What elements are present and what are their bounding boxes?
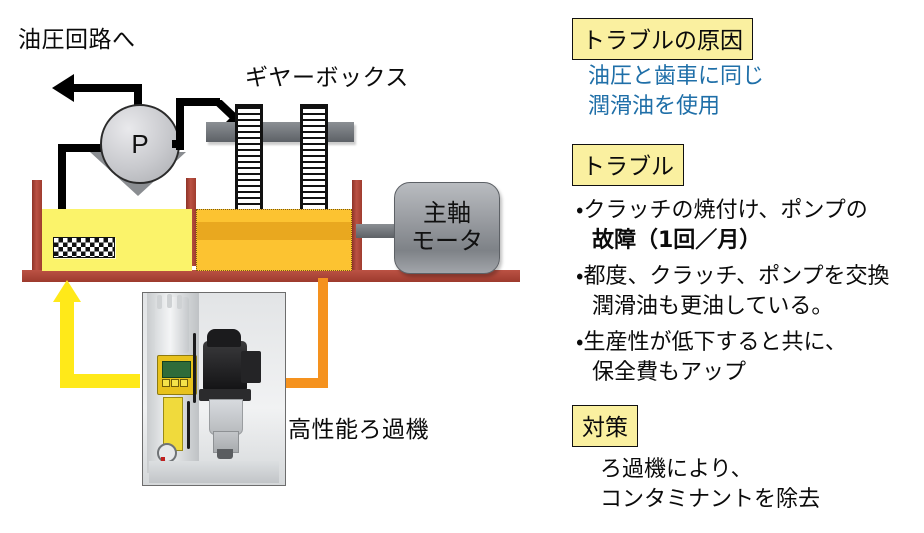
slide-root: 油圧回路へ ギヤーボックス 高性能ろ過機 P [0,0,924,533]
photo-cable-a [193,333,196,403]
photo-filter-bowl [209,399,243,435]
filter-unit-photo [142,292,286,486]
photo-drain-valve [217,449,233,459]
header-trouble: トラブル [572,144,684,186]
countermeasure-line2: コンタミナントを除去 [600,485,820,515]
header-cause: トラブルの原因 [572,18,753,60]
photo-cable-b [187,401,190,449]
trouble-bullet-3-line1: ・生産性が低下すると共に、 [576,328,847,358]
return-flow-horizontal [60,374,140,388]
pump-label: P [131,129,148,160]
label-hydraulic-circuit: 油圧回路へ [18,20,136,54]
pipe-to-hydraulic-circuit [72,84,142,92]
photo-terminal-box [241,351,261,383]
suction-strainer [53,237,115,258]
tank-wall-left [32,180,42,276]
photo-housing-cap-b [167,294,172,308]
gearbox-shaft [206,122,354,142]
supply-flow-vertical [318,278,328,388]
photo-base-frame [149,461,279,483]
dirty-oil-band [197,222,351,240]
trouble-bullet-3-line2: 保全費もアップ [592,358,746,388]
photo-motor-fan-cover [207,329,241,347]
dirty-oil-chamber [196,209,352,271]
trouble-bullet-2-line2: 潤滑油も更油している。 [592,292,833,322]
label-gearbox: ギヤーボックス [245,58,409,92]
spindle-motor-label-line2: モータ [411,228,483,256]
photo-pressure-gauge [157,443,177,463]
explanation-panel: トラブルの原因 油圧と歯車に同じ 潤滑油を使用 トラブル ・クラッチの焼付け、ポ… [560,0,924,533]
pipe-top-run [176,98,220,106]
photo-button-3 [180,379,188,387]
photo-button-2 [171,379,179,387]
photo-button-1 [162,379,170,387]
photo-housing-cap-c [177,295,182,309]
photo-housing-cap-a [157,295,162,309]
label-filter-unit: 高性能ろ過機 [288,410,429,444]
header-countermeasure: 対策 [572,405,638,447]
cause-line1: 油圧と歯車に同じ [588,62,764,92]
countermeasure-line1: ろ過機により、 [600,455,753,485]
return-flow-arrowhead [53,280,81,302]
trouble-bullet-2-line1: ・都度、クラッチ、ポンプを交換 [576,262,890,292]
hydraulic-pump: P [100,104,180,184]
spindle-motor: 主軸 モータ [394,182,500,274]
spindle-motor-label-line1: 主軸 [423,200,471,228]
trouble-bullet-1-line2: 故障（1回／月） [592,226,761,256]
cause-line2: 潤滑油を使用 [588,92,720,122]
trouble-bullet-1-line1: ・クラッチの焼付け、ポンプの [576,196,868,226]
motor-shaft [356,224,398,238]
photo-display-screen [162,361,191,378]
arrow-to-hydraulic-circuit [52,74,74,102]
lubrication-system-diagram: 油圧回路へ ギヤーボックス 高性能ろ過機 P [0,0,560,533]
